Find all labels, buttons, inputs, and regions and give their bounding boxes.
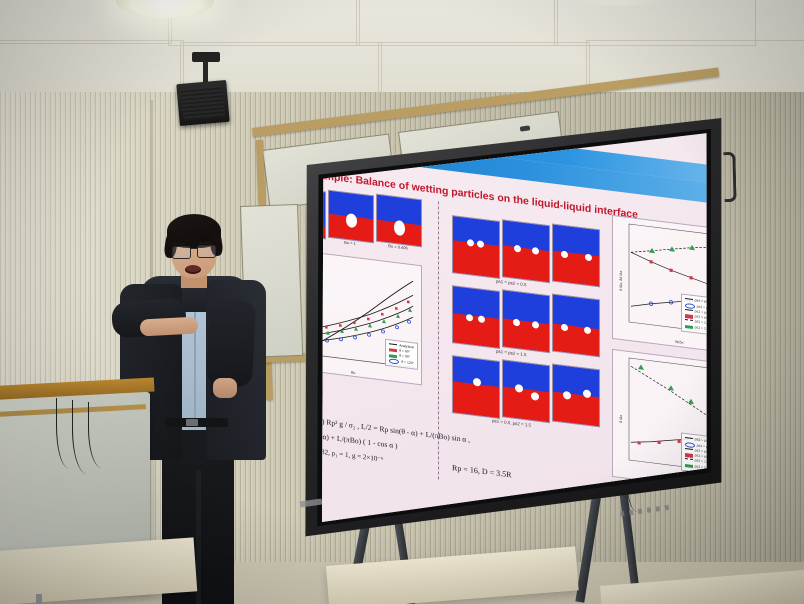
sim-panel [502,359,550,423]
display-handle [723,152,736,202]
sim-panel [376,194,422,248]
legend-marker-line [685,437,693,442]
legend-marker-dashed [685,319,693,324]
sim-panel [452,215,500,279]
presenter-eyebrow-left [172,243,185,245]
sim-panel [502,289,550,353]
left-chart-xlabel: Bo [351,371,355,376]
legend-marker-line [685,308,693,313]
bottom-right-chart-ylabel: δ /Δx [619,415,623,424]
sim-panel [552,223,600,287]
legend-marker-triangle [685,325,693,329]
wall-speaker [176,80,229,126]
sim-panel [502,219,550,283]
lecture-room-photo: 4.5 Numerical examples Example: Balance … [0,0,804,604]
sim-panel [552,293,600,357]
presenter-glasses-bridge [190,248,198,249]
legend-marker-line [685,447,693,452]
presenter-mouth [185,265,201,274]
legend-marker-line [685,298,693,303]
top-right-chart-ylabel: δ /Δx, δd /Δx [619,270,623,291]
legend-marker-line [389,343,397,348]
legend-marker-dashed [685,458,693,463]
sim-panel [552,363,600,427]
presenter-glasses-left-lens [172,246,191,259]
legend-label: θ = 120° [401,360,414,367]
sim-panel [328,190,374,244]
belt-buckle [186,419,198,426]
presenter-left-hand [140,316,199,336]
foreground-desk-leg [36,594,42,604]
presenter-eyebrow-right [199,242,212,244]
grid-footnote: Rp = 16, D = 3.5R [452,463,511,479]
sim-panel [452,355,500,419]
presenter-glasses-right-lens [197,245,216,258]
legend-marker-circle [389,358,399,364]
left-chart-legend: Analytical θ = 60° θ = 90° θ = 120° [385,339,418,370]
presenter-right-hand [213,378,237,398]
legend-marker-triangle [685,464,693,468]
presenter-right-arm [206,299,256,387]
sim-panel [452,285,500,349]
